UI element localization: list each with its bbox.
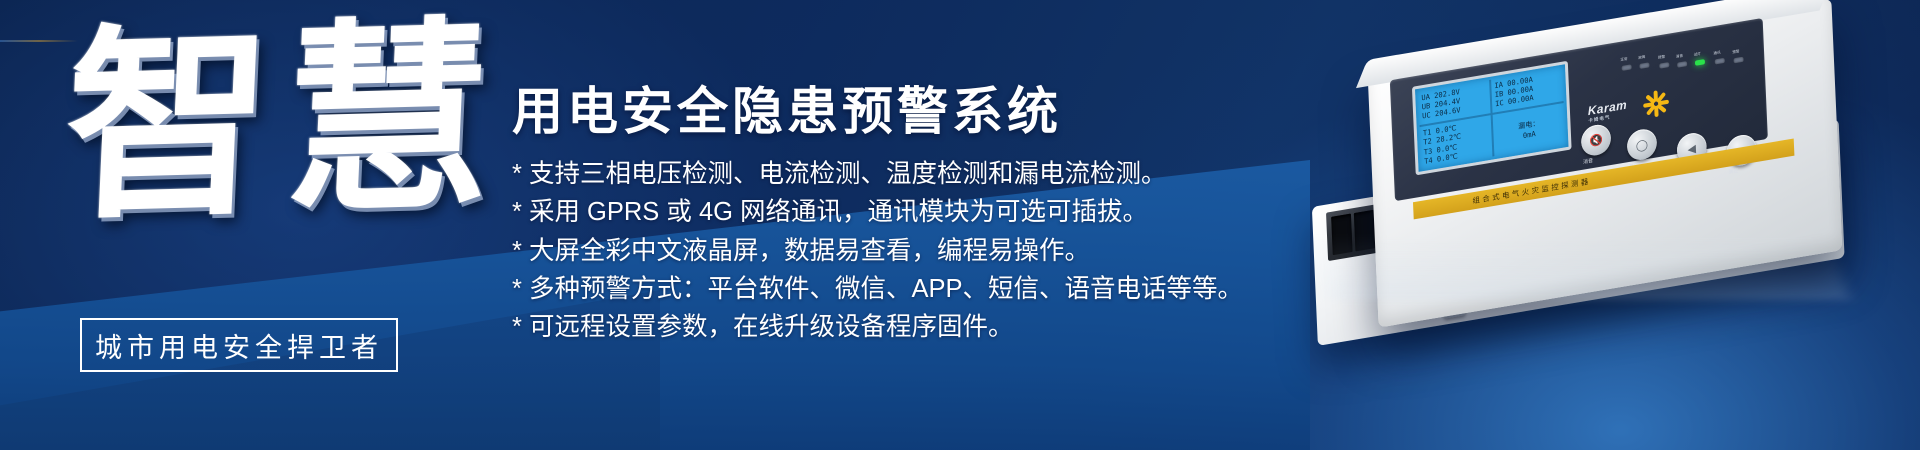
- top-accent-line: [0, 40, 78, 42]
- led-label-mute: 消音: [1676, 54, 1683, 60]
- copy-block: 用电安全隐患预警系统 * 支持三相电压检测、电流检测、温度检测和漏电流检测。 *…: [512, 84, 1322, 346]
- led-label-normal: 正常: [1620, 57, 1627, 63]
- page-title: 用电安全隐患预警系统: [512, 84, 1322, 139]
- led-label-alarm: 报警: [1658, 55, 1665, 61]
- list-item: * 采用 GPRS 或 4G 网络通讯，通讯模块为可选可插拔。: [512, 193, 1322, 231]
- list-item: * 多种预警方式：平台软件、微信、APP、短信、语音电话等等。: [512, 270, 1322, 308]
- mute-icon: 🔇: [1589, 132, 1603, 147]
- calligraphy-text: 智慧: [61, 17, 491, 233]
- list-item-label: 采用 GPRS 或 4G 网络通讯，通讯模块为可选可插拔。: [529, 193, 1148, 231]
- black-terminal-pin: [1331, 214, 1352, 256]
- product-image: 供电/通讯 测温/输入: [1330, 18, 1920, 418]
- list-item: * 大屏全彩中文液晶屏，数据易查看，编程易操作。: [512, 232, 1322, 270]
- bullet-marker-icon: *: [512, 193, 522, 231]
- led-prewarn: [1734, 57, 1744, 64]
- led-label-prewarn: 预警: [1732, 49, 1739, 55]
- reset-icon: ◯: [1636, 137, 1649, 152]
- lcd-leakage-value: 0mA: [1523, 129, 1536, 140]
- promo-banner: 智慧 城市用电安全捍卫者 用电安全隐患预警系统 * 支持三相电压检测、电流检测、…: [0, 0, 1920, 450]
- list-item-label: 支持三相电压检测、电流检测、温度检测和漏电流检测。: [529, 155, 1167, 193]
- tagline-text: 城市用电安全捍卫者: [95, 326, 383, 365]
- list-item-label: 多种预警方式：平台软件、微信、APP、短信、语音电话等等。: [529, 270, 1243, 308]
- bullet-marker-icon: *: [512, 308, 522, 346]
- led-alarm: [1659, 62, 1669, 69]
- list-item: * 可远程设置参数，在线升级设备程序固件。: [512, 308, 1322, 346]
- led-label-fault: 故障: [1638, 55, 1645, 61]
- feature-list: * 支持三相电压检测、电流检测、温度检测和漏电流检测。 * 采用 GPRS 或 …: [512, 155, 1322, 346]
- led-label-test: 试灯: [1694, 52, 1701, 58]
- page-left-arrow-icon: ◀: [1687, 141, 1696, 155]
- list-item-label: 大屏全彩中文液晶屏，数据易查看，编程易操作。: [529, 232, 1090, 270]
- tagline-box: 城市用电安全捍卫者: [80, 318, 398, 372]
- list-item-label: 可远程设置参数，在线升级设备程序固件。: [529, 308, 1014, 346]
- mute-button[interactable]: 🔇: [1581, 123, 1612, 158]
- bullet-marker-icon: *: [512, 270, 522, 308]
- bullet-marker-icon: *: [512, 232, 522, 270]
- led-mute: [1677, 61, 1687, 68]
- black-terminal-pin: [1354, 210, 1375, 252]
- lcd-screen: UA 202.8V UB 204.4V UC 204.6V IA 00.00A …: [1412, 61, 1572, 176]
- calligraphy-block: 智慧: [70, 28, 490, 288]
- mute-button-label: 消音: [1583, 157, 1593, 166]
- device-housing: 供电/通讯 测温/输入: [1368, 0, 1843, 328]
- led-label-comm: 通讯: [1713, 50, 1720, 56]
- led-comm: [1715, 58, 1725, 65]
- led-fault: [1639, 62, 1649, 69]
- led-indicator-strip: 正常 故障 报警 消音 试灯 通讯 预警: [1619, 33, 1759, 96]
- led-test: [1695, 59, 1705, 66]
- reset-button[interactable]: ◯: [1626, 127, 1657, 162]
- led-normal: [1622, 64, 1632, 71]
- bullet-marker-icon: *: [512, 155, 522, 193]
- list-item: * 支持三相电压检测、电流检测、温度检测和漏电流检测。: [512, 155, 1322, 193]
- lcd-readout-grid: UA 202.8V UB 204.4V UC 204.6V IA 00.00A …: [1418, 68, 1565, 169]
